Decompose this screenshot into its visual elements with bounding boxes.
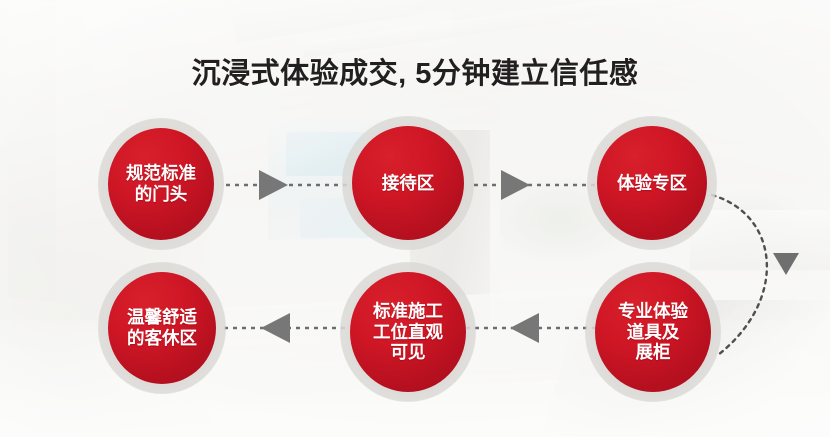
node-reception-label: 接待区 — [376, 173, 441, 194]
arrow-left-icon — [510, 313, 539, 343]
arrow-right-icon — [259, 170, 288, 200]
connector-props-to-worksite — [466, 313, 596, 343]
connector-gate-to-reception — [226, 170, 352, 200]
node-props-and-showcase[interactable]: 专业体验道具及展柜 — [595, 272, 711, 392]
node-experience-zone[interactable]: 体验专区 — [597, 126, 707, 240]
page-title: 沉浸式体验成交, 5分钟建立信任感 — [0, 50, 830, 92]
node-props-and-showcase-label: 专业体验道具及展柜 — [612, 301, 694, 363]
node-lounge[interactable]: 温馨舒适的客休区 — [108, 272, 216, 384]
node-worksite[interactable]: 标准施工工位直观可见 — [350, 272, 466, 392]
arrow-left-icon — [261, 313, 290, 343]
node-lounge-label: 温馨舒适的客休区 — [121, 307, 203, 348]
connector-reception-to-exp — [474, 170, 597, 200]
arrow-down-icon — [773, 253, 799, 275]
arrow-right-icon — [501, 170, 530, 200]
node-experience-zone-label: 体验专区 — [611, 173, 693, 194]
connector-worksite-to-lounge — [224, 313, 350, 343]
node-gate-label: 规范标准的门头 — [120, 163, 202, 204]
node-reception[interactable]: 接待区 — [352, 126, 464, 240]
slide-canvas: 沉浸式体验成交, 5分钟建立信任感 规范标准的门头 — [0, 0, 830, 437]
node-worksite-label: 标准施工工位直观可见 — [367, 301, 449, 363]
connector-exp-to-props — [712, 195, 799, 355]
node-gate[interactable]: 规范标准的门头 — [108, 128, 214, 240]
connector-arc — [712, 195, 767, 355]
